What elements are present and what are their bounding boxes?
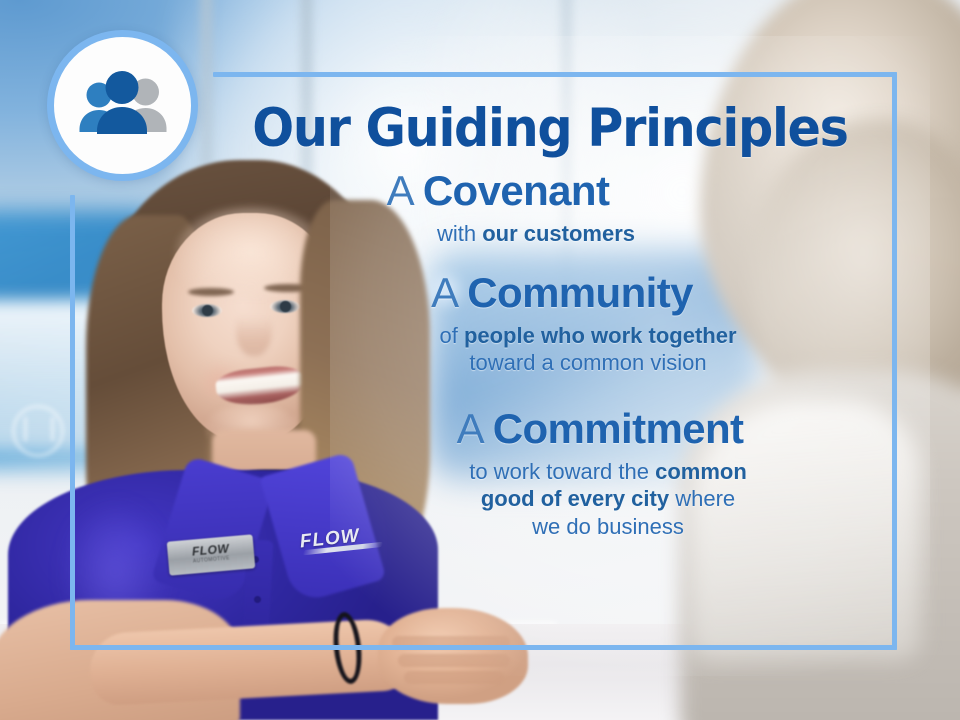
principle-1-sub-bold: our customers bbox=[482, 221, 635, 246]
principle-2-heading: A Community bbox=[212, 271, 912, 316]
principle-2-subtext: of people who work together toward a com… bbox=[238, 322, 938, 377]
principle-1-word: Covenant bbox=[423, 167, 610, 214]
principle-3-heading: A Commitment bbox=[250, 407, 950, 452]
principle-2-word: Community bbox=[467, 269, 693, 316]
principle-1-article: A bbox=[387, 167, 412, 214]
principle-3-sub-light-3: we do business bbox=[532, 514, 684, 539]
principle-1-sub-light: with bbox=[437, 221, 482, 246]
principle-2-sub-bold: people who work together bbox=[464, 323, 737, 348]
principle-2-sub-light: of bbox=[439, 323, 463, 348]
page-title: Our Guiding Principles bbox=[225, 102, 876, 155]
principle-1-heading: A Covenant bbox=[148, 169, 848, 214]
guiding-principles-graphic: FLOW AUTOMOTIVE FLOW bbox=[0, 0, 960, 720]
principle-3-subtext: to work toward the common good of every … bbox=[258, 458, 958, 541]
principle-1-subtext: with our customers bbox=[186, 220, 886, 248]
employee-finger bbox=[398, 654, 510, 667]
employee-finger bbox=[404, 671, 504, 684]
principle-3-word: Commitment bbox=[493, 405, 744, 452]
principle-commitment: A Commitment to work toward the common g… bbox=[200, 407, 900, 541]
people-group-icon-badge bbox=[47, 30, 198, 181]
principle-2-sub-light-2: toward a common vision bbox=[469, 350, 706, 375]
principle-3-sub-light-2: where bbox=[669, 486, 735, 511]
principle-2-article: A bbox=[431, 269, 456, 316]
principle-3-sub-bold: common bbox=[655, 459, 747, 484]
text-content: Our Guiding Principles A Covenant with o… bbox=[200, 80, 900, 640]
principle-covenant: A Covenant with our customers bbox=[200, 169, 900, 247]
principle-3-article: A bbox=[457, 405, 482, 452]
people-group-icon bbox=[71, 68, 175, 144]
principle-3-sub-light: to work toward the bbox=[469, 459, 655, 484]
principle-community: A Community of people who work together … bbox=[200, 271, 900, 377]
principle-3-sub-bold-2: good of every city bbox=[481, 486, 669, 511]
